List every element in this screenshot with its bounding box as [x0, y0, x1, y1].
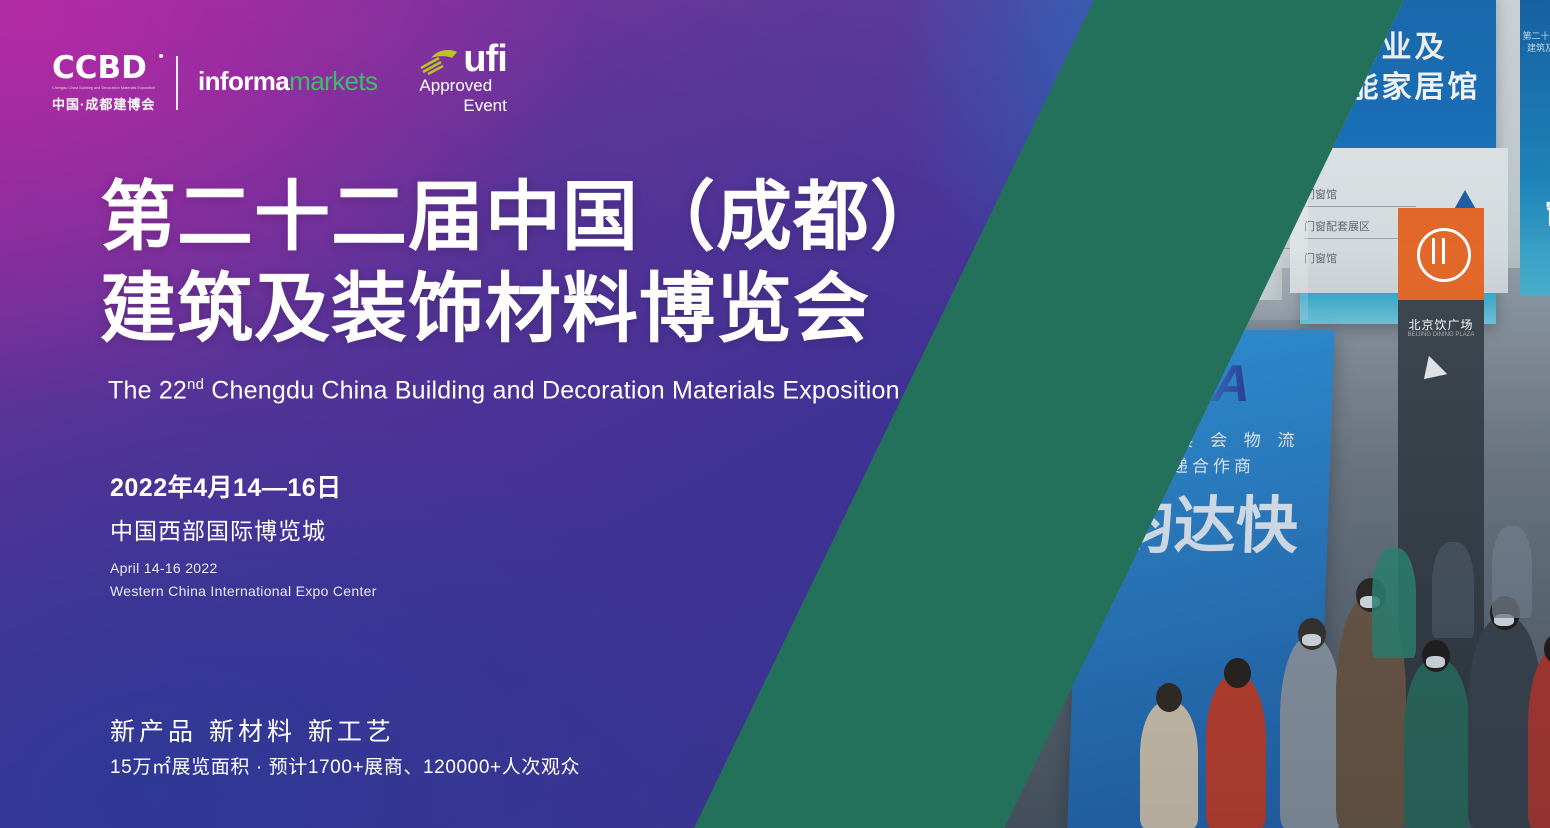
event-date-cn: 2022年4月14—16日: [110, 468, 377, 504]
event-venue-cn: 中国西部国际博览城: [110, 512, 377, 546]
subtitle-ordinal: nd: [187, 376, 204, 393]
subtitle-rest: Chengdu China Building and Decoration Ma…: [211, 376, 899, 404]
ccbd-chinese-subtitle: 中国·成都建博会: [52, 94, 160, 113]
page-title: 第二十二届中国（成都） 建筑及装饰材料博览会: [100, 172, 947, 356]
logo-divider: [176, 56, 178, 110]
ccbd-logo[interactable]: CCBD Chengdu China Building and Decorati…: [52, 53, 160, 113]
ufi-approved-event-logo[interactable]: ufi Approved Event: [419, 42, 506, 116]
ccbd-english-subtitle: Chengdu China Building and Decoration Ma…: [52, 86, 156, 91]
event-date-en: April 14-16 2022: [110, 560, 377, 576]
ccbd-wordmark: CCBD: [52, 53, 160, 84]
english-subtitle: The 22nd Chengdu China Building and Deco…: [108, 376, 900, 405]
markets-word: markets: [289, 66, 377, 96]
ccbd-dot-icon: [159, 54, 163, 58]
informa-word: informa: [198, 66, 289, 96]
promotional-banner: 门业及 智能家居馆 门窗馆 门窗配套展区 门窗馆 第二十一届中国（成都）建筑及装…: [0, 0, 1550, 828]
title-line-2: 建筑及装饰材料博览会: [100, 264, 947, 356]
ufi-swoosh-icon: [419, 46, 459, 76]
event-venue-en: Western China International Expo Center: [110, 583, 377, 599]
logo-row: CCBD Chengdu China Building and Decorati…: [52, 46, 507, 120]
title-line-1: 第二十二届中国（成都）: [100, 172, 947, 264]
footer-tagline: 新产品 新材料 新工艺: [110, 712, 395, 748]
event-details: 2022年4月14—16日 中国西部国际博览城 April 14-16 2022…: [110, 468, 377, 599]
informa-markets-logo[interactable]: informamarkets: [198, 66, 377, 97]
footer-stats: 15万㎡展览面积 · 预计1700+展商、120000+人次观众: [110, 752, 580, 779]
ufi-event-label: Event: [419, 96, 506, 116]
ufi-wordmark: ufi: [463, 42, 506, 76]
subtitle-prefix: The 22: [108, 376, 187, 404]
